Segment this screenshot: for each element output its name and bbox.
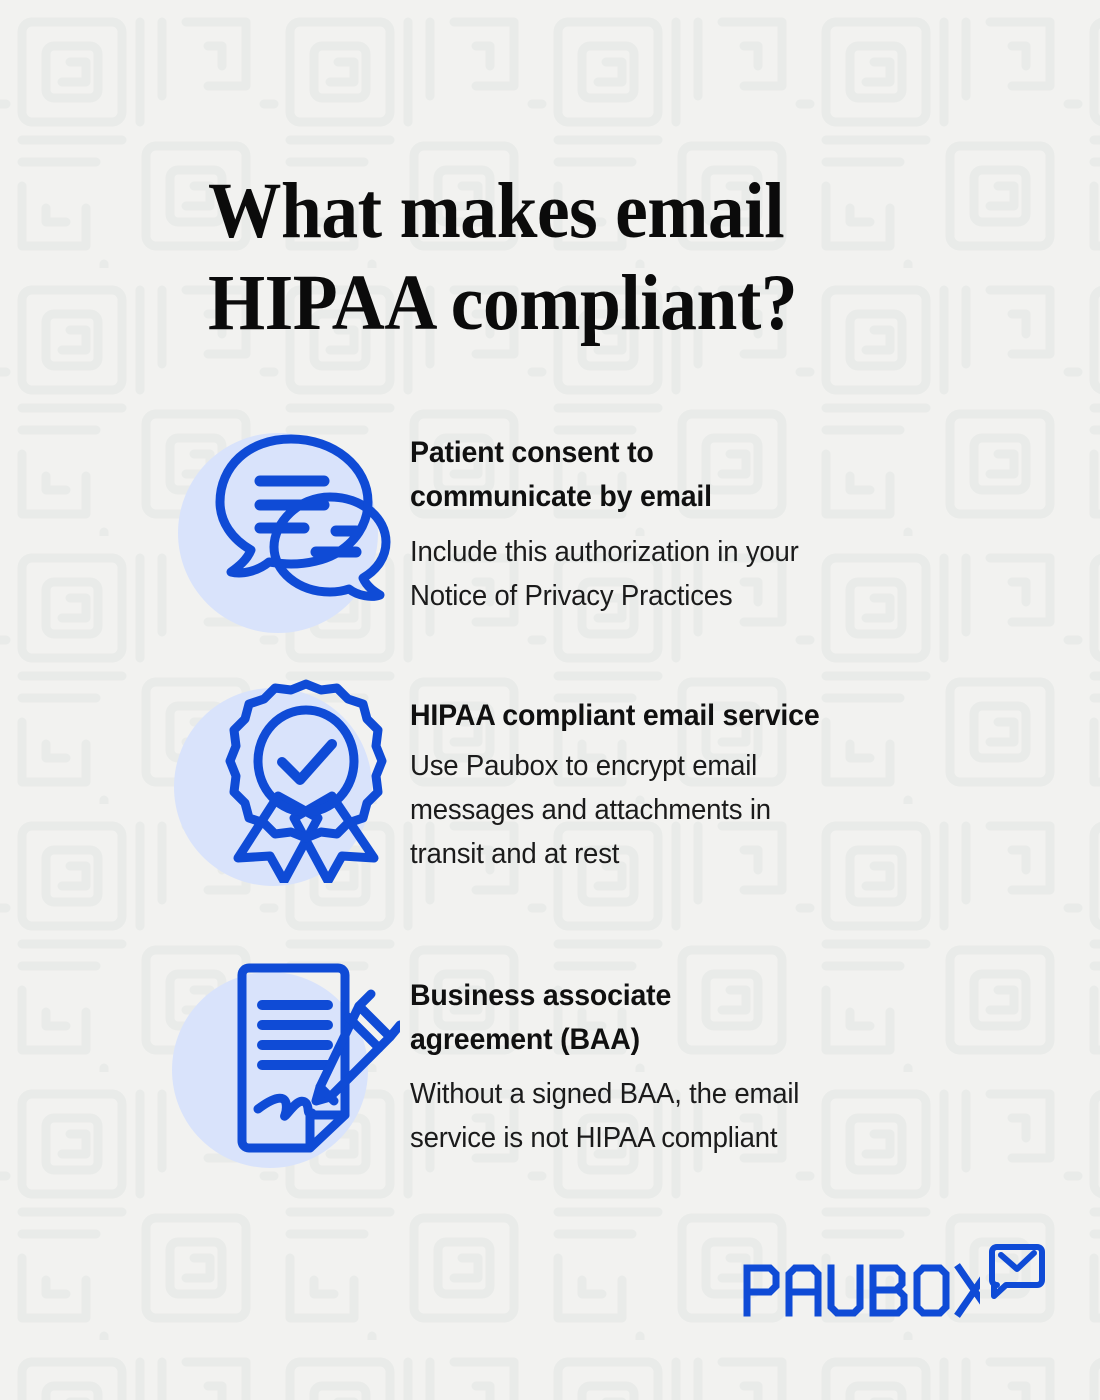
list-item: Business associate agreement (BAA) Witho… <box>170 958 1020 1173</box>
list-item-heading: Business associate agreement (BAA) <box>410 974 990 1062</box>
paubox-wordmark <box>742 1262 980 1318</box>
list-item-text: Patient consent to communicate by email … <box>410 415 1020 618</box>
award-badge-check-icon <box>170 678 410 893</box>
signed-document-pen-icon <box>170 958 410 1173</box>
envelope-speech-bubble-icon <box>984 1240 1046 1302</box>
list-item-body: Without a signed BAA, the email service … <box>410 1072 990 1160</box>
paubox-logo[interactable] <box>742 1262 1046 1318</box>
list-item-text: HIPAA compliant email service Use Paubox… <box>410 678 1020 876</box>
list-item-text: Business associate agreement (BAA) Witho… <box>410 958 1020 1160</box>
list-item: Patient consent to communicate by email … <box>170 415 1020 630</box>
infographic-content: What makes email HIPAA compliant? <box>0 0 1100 1400</box>
page-title: What makes email HIPAA compliant? <box>208 166 915 350</box>
list-item: HIPAA compliant email service Use Paubox… <box>170 678 1020 893</box>
chat-bubbles-icon <box>170 415 410 630</box>
list-item-body: Use Paubox to encrypt email messages and… <box>410 744 990 876</box>
list-item-heading: Patient consent to communicate by email <box>410 431 990 519</box>
list-item-body: Include this authorization in your Notic… <box>410 530 990 618</box>
list-item-heading: HIPAA compliant email service <box>410 694 990 738</box>
